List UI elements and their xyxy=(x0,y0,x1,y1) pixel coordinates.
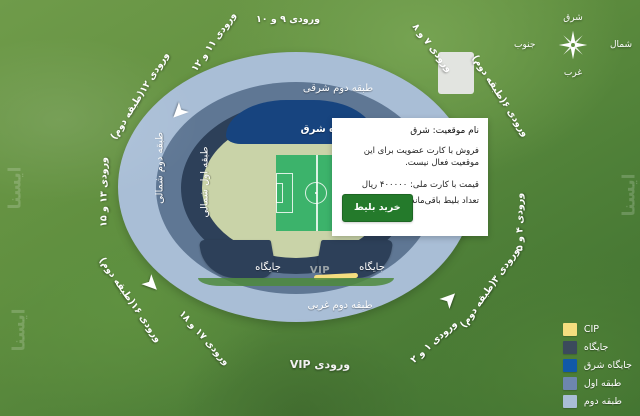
tooltip-price: قیمت با کارت ملی: ۴۰۰۰۰۰ ریال xyxy=(341,179,479,191)
goal-box-left xyxy=(276,183,283,203)
legend-item-east-stand: جایگاه شرق xyxy=(563,359,632,372)
label-tier2-east: طبقه دوم شرقی xyxy=(303,83,373,94)
buy-ticket-button[interactable]: خرید بلیط xyxy=(342,194,413,222)
center-spot xyxy=(315,192,317,194)
entrance-label-9-10: ورودی ۹ و ۱۰ xyxy=(256,14,320,25)
label-tier2-north: طبقه دوم شمالی xyxy=(155,132,166,204)
label-stand-right: جایگاه xyxy=(359,262,385,273)
compass-direction-top: شرق xyxy=(563,13,583,23)
legend-label: جایگاه xyxy=(584,342,609,353)
bowl-apron xyxy=(198,278,394,286)
entrance-label-vip: ورودی VIP xyxy=(290,358,350,371)
compass: شرق جنوب شمال غرب xyxy=(540,16,606,74)
legend-label: طبقه دوم xyxy=(584,396,622,407)
legend-swatch xyxy=(563,341,577,354)
entrance-label-13-15: ورودی ۱۳ و ۱۵ xyxy=(99,157,110,227)
legend: CIP جایگاه جایگاه شرق طبقه اول طبقه دوم xyxy=(563,323,632,408)
label-stand-left: جایگاه xyxy=(255,262,281,273)
tooltip-title: نام موقعیت: شرق xyxy=(341,125,479,138)
compass-direction-right: شمال xyxy=(610,40,632,50)
legend-label: CIP xyxy=(584,324,599,335)
legend-item-tier-one: طبقه اول xyxy=(563,377,621,390)
legend-item-cip: CIP xyxy=(563,323,599,336)
legend-label: طبقه اول xyxy=(584,378,621,389)
watermark: ایسنا xyxy=(9,309,29,352)
watermark: ایسنا xyxy=(619,174,639,217)
legend-item-stand: جایگاه xyxy=(563,341,609,354)
legend-swatch xyxy=(563,359,577,372)
legend-swatch xyxy=(563,395,577,408)
legend-swatch xyxy=(563,323,577,336)
legend-swatch xyxy=(563,377,577,390)
tooltip-note: فروش با کارت عضویت برای این موقعیت فعال … xyxy=(341,145,479,170)
watermark: ایسنا xyxy=(5,167,25,210)
entrance-label-4-5: ورودی ۴ و ۵ xyxy=(515,193,526,251)
seat-info-tooltip: نام موقعیت: شرق فروش با کارت عضویت برای … xyxy=(332,118,488,236)
compass-direction-bottom: غرب xyxy=(564,68,582,78)
entrance-label-1-2: ورودی ۱ و ۲ xyxy=(409,318,460,365)
legend-item-tier-two: طبقه دوم xyxy=(563,395,622,408)
label-tier1-north: طبقه اول شمالی xyxy=(200,146,211,217)
stadium-seat-map: ایسنا ایسنا ایسنا طبقه دوم شرقی جایگاه ش… xyxy=(0,0,640,416)
compass-direction-left: جنوب xyxy=(514,40,535,50)
legend-label: جایگاه شرق xyxy=(584,360,632,371)
compass-rose-icon xyxy=(558,30,588,60)
label-vip-block: VIP xyxy=(310,265,330,276)
label-tier2-west: طبقه دوم غربی xyxy=(307,300,372,311)
